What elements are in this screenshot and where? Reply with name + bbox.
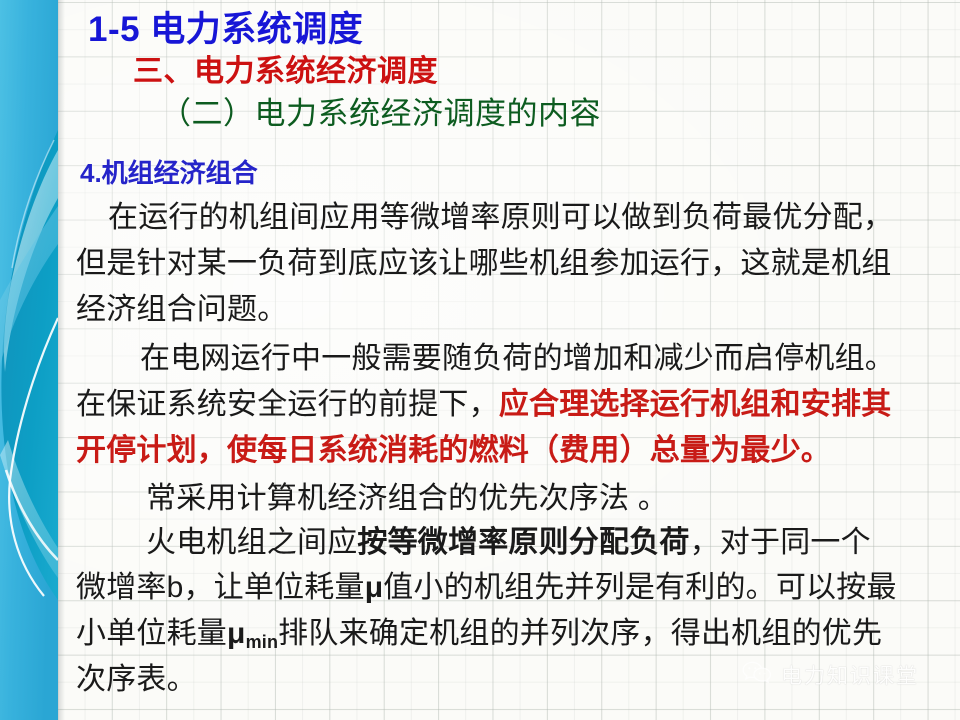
slide-title-section: 三、电力系统经济调度	[133, 57, 438, 87]
paragraph-4-line-3-part-b: 排队来确定机组的并列次序，得出机组的优先	[278, 617, 882, 650]
paragraph-2-line-3: 开停计划，使每日系统消耗的燃料（费用）总量为最少。	[76, 436, 831, 466]
paragraph-3-line-1: 常采用计算机经济组合的优先次序法 。	[146, 484, 668, 514]
slide-title-subsection: （二）电力系统经济调度的内容	[160, 98, 601, 129]
paragraph-1-line-3: 经济组合问题。	[76, 295, 287, 325]
paragraph-1-line-2: 但是针对某一负荷到底应该让哪些机组参加运行，这就是机组	[76, 249, 891, 279]
paragraph-4-line-1-part-b: ，对于同一个	[690, 526, 871, 559]
slide-content: 1-5 电力系统调度 三、电力系统经济调度 （二）电力系统经济调度的内容 4.机…	[0, 0, 960, 720]
mu-symbol: μ	[365, 571, 384, 604]
paragraph-4-line-3-part-a: 小单位耗量	[76, 617, 227, 650]
body-heading-4: 4.机组经济组合	[80, 160, 258, 186]
paragraph-2-line-2-plain: 在保证系统安全运行的前提下，	[76, 388, 499, 421]
paragraph-2-line-1: 在电网运行中一般需要随负荷的增加和减少而启停机组。	[140, 344, 895, 374]
paragraph-4-line-1: 火电机组之间应按等微增率原则分配负荷，对于同一个	[146, 528, 871, 558]
paragraph-4-line-2: 微增率b，让单位耗量μ值小的机组先并列是有利的。可以按最	[76, 573, 897, 603]
paragraph-2-line-2-emphasis: 应合理选择运行机组和安排其	[499, 388, 892, 421]
paragraph-2-line-3-emphasis: 开停计划，使每日系统消耗的燃料（费用）总量为最少。	[76, 434, 831, 467]
mu-min-symbol: μ	[227, 617, 246, 650]
slide-title-main: 1-5 电力系统调度	[88, 12, 363, 47]
paragraph-4-line-4: 次序表。	[76, 665, 197, 695]
paragraph-4-line-1-part-a: 火电机组之间应	[146, 526, 357, 559]
paragraph-4-line-2-part-b: 值小的机组先并列是有利的。可以按最	[383, 571, 896, 604]
paragraph-1-line-1: 在运行的机组间应用等微增率原则可以做到负荷最优分配，	[108, 203, 893, 233]
paragraph-4-line-1-bold: 按等微增率原则分配负荷	[357, 526, 689, 559]
presentation-slide: 1-5 电力系统调度 三、电力系统经济调度 （二）电力系统经济调度的内容 4.机…	[0, 0, 960, 720]
paragraph-2-line-2: 在保证系统安全运行的前提下，应合理选择运行机组和安排其	[76, 390, 891, 420]
paragraph-4-line-3: 小单位耗量μmin排队来确定机组的并列次序，得出机组的优先	[76, 619, 882, 649]
mu-min-subscript: min	[246, 632, 279, 652]
paragraph-4-line-2-part-a: 微增率b，让单位耗量	[76, 571, 365, 604]
